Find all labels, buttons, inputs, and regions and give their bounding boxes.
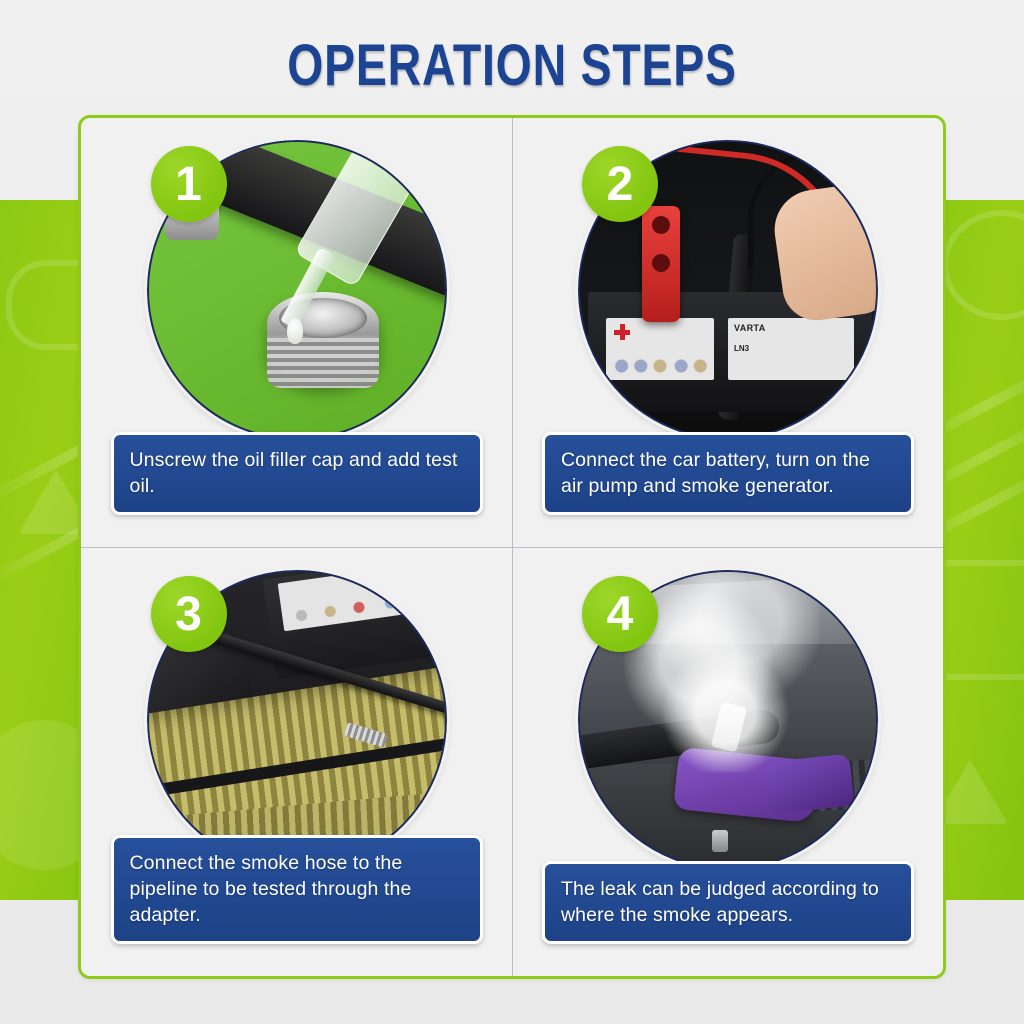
warning-pictograms — [287, 590, 420, 624]
oil-drop-shape — [287, 318, 303, 344]
battery-label-shape — [277, 570, 432, 631]
battery-model-text: LN3 — [734, 344, 749, 353]
battery-brand-label: VARTA LN3 — [728, 318, 854, 380]
step-number-badge-1: 1 — [151, 146, 227, 222]
steps-grid: 1 Unscrew the oil filler cap a — [81, 118, 943, 976]
step-number-badge-2: 2 — [582, 146, 658, 222]
warning-pictograms — [612, 354, 708, 374]
step-cell-3: 3 — [81, 547, 512, 976]
step-caption-2: Connect the car battery, turn on the air… — [542, 432, 914, 515]
poster-root: OPERATION STEPS 1 — [0, 0, 1024, 1024]
port-threads-shape — [267, 338, 379, 388]
step-photo-wrap-4: 4 — [578, 570, 878, 870]
step-caption-4: The leak can be judged according to wher… — [542, 861, 914, 944]
page-title: OPERATION STEPS — [102, 36, 921, 97]
step-number-badge-4: 4 — [582, 576, 658, 652]
red-terminal-clamp-shape — [642, 206, 680, 322]
first-aid-cross-icon — [614, 324, 630, 340]
watermark-shape — [942, 210, 1024, 320]
step-caption-1: Unscrew the oil filler cap and add test … — [111, 432, 483, 515]
step-cell-1: 1 Unscrew the oil filler cap a — [81, 118, 512, 547]
step-photo-wrap-3: 3 — [147, 570, 447, 870]
step-cell-2: 2 VARTA LN3 — [512, 118, 943, 547]
steps-card: 1 Unscrew the oil filler cap a — [78, 115, 946, 979]
step-caption-3: Connect the smoke hose to the pipeline t… — [111, 835, 483, 944]
step-cell-4: 4 — [512, 547, 943, 976]
step-photo-wrap-2: 2 VARTA LN3 — [578, 140, 878, 440]
step-number-badge-3: 3 — [151, 576, 227, 652]
step-photo-wrap-1: 1 — [147, 140, 447, 440]
bolt-shape — [712, 830, 728, 852]
battery-warning-label — [606, 318, 714, 380]
battery-brand-text: VARTA — [734, 323, 766, 333]
